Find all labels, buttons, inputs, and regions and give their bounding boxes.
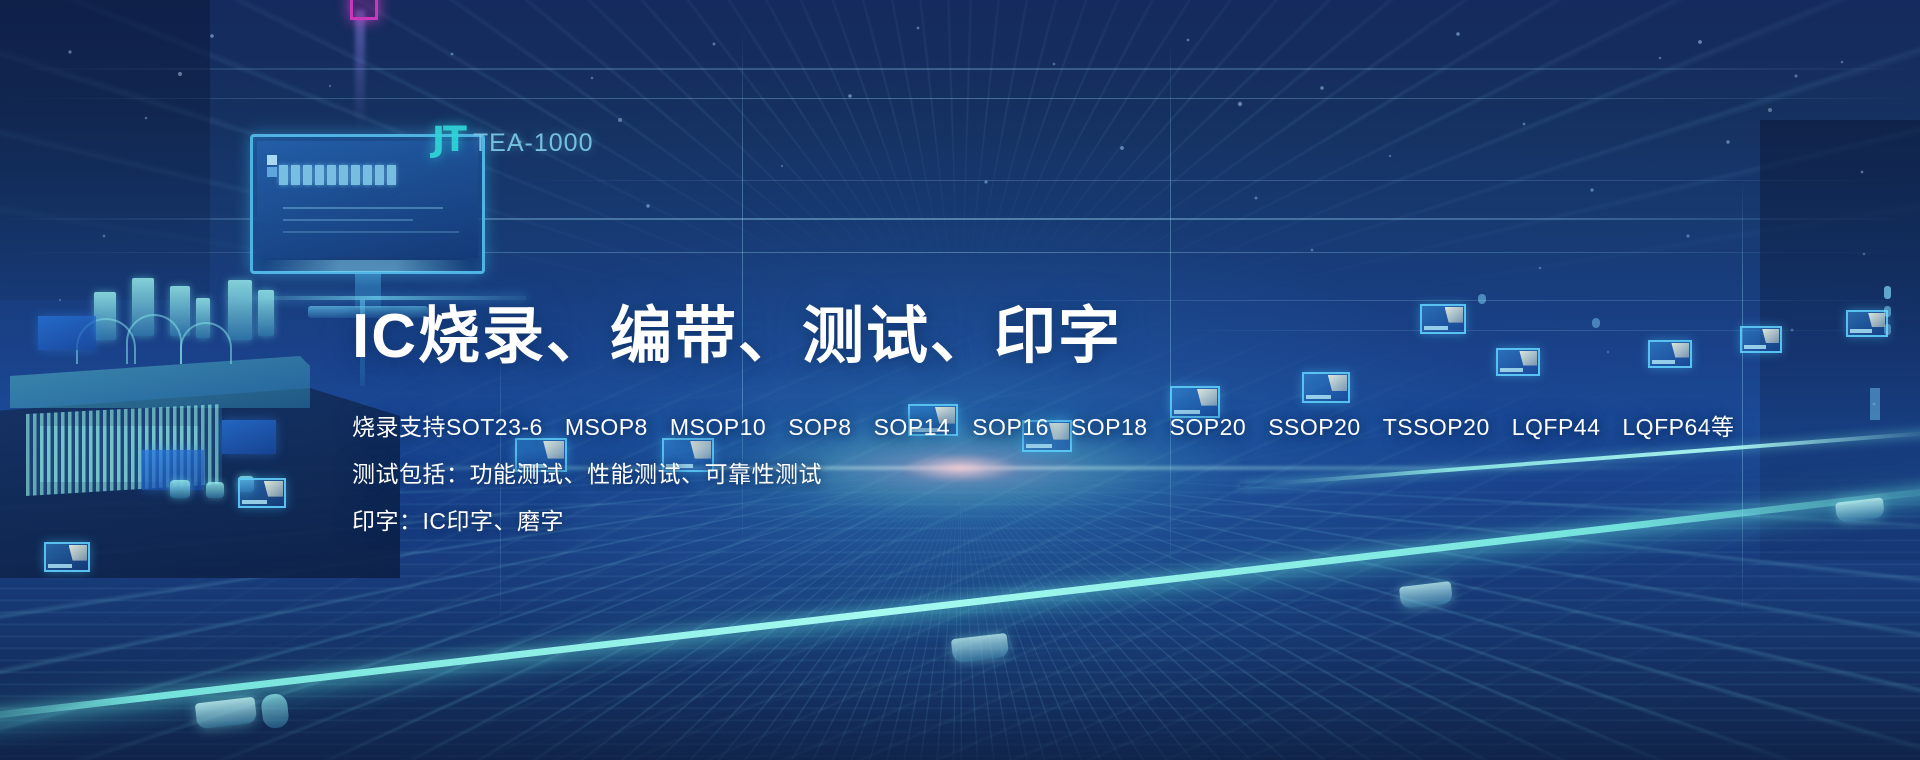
package-label: SOP20 bbox=[1170, 404, 1247, 451]
subtitle-test-scope: 测试包括：功能测试、性能测试、可靠性测试 bbox=[352, 451, 1652, 498]
magenta-chip-icon bbox=[350, 0, 378, 20]
floating-monitor-icon bbox=[1740, 326, 1782, 353]
burn-prefix-label: 烧录支持 bbox=[352, 414, 446, 440]
magenta-light-beam bbox=[355, 10, 365, 130]
machine-logo: JT TEA-1000 bbox=[432, 120, 593, 160]
package-label: LQFP64 bbox=[1622, 404, 1711, 451]
package-label: MSOP10 bbox=[670, 404, 766, 451]
package-label: SOP14 bbox=[874, 404, 951, 451]
package-label: SSOP20 bbox=[1268, 404, 1361, 451]
floating-monitor-icon bbox=[1846, 310, 1888, 337]
status-bar-indicator bbox=[1870, 388, 1880, 420]
subtitle-group: 烧录支持SOT23-6MSOP8MSOP10SOP8SOP14SOP16SOP1… bbox=[352, 404, 1652, 545]
floating-monitor-icon bbox=[238, 478, 286, 508]
floating-monitor-icon bbox=[1648, 340, 1692, 368]
subtitle-printing: 印字：IC印字、磨字 bbox=[352, 498, 1652, 545]
hero-banner: JT TEA-1000 IC烧录、编带、测试、印字 烧录支持SOT23-6MSO… bbox=[0, 0, 1920, 760]
logo-model: TEA-1000 bbox=[473, 129, 594, 158]
package-label: LQFP44 bbox=[1512, 404, 1601, 451]
logo-mark: JT bbox=[432, 120, 465, 160]
package-label: TSSOP20 bbox=[1383, 404, 1490, 451]
subtitle-burn-support: 烧录支持SOT23-6MSOP8MSOP10SOP8SOP14SOP16SOP1… bbox=[352, 404, 1652, 451]
package-label: SOP16 bbox=[972, 404, 1049, 451]
status-dot bbox=[1884, 324, 1891, 335]
banner-copy: IC烧录、编带、测试、印字 烧录支持SOT23-6MSOP8MSOP10SOP8… bbox=[352, 300, 1652, 545]
package-label: SOT23-6 bbox=[446, 404, 543, 451]
status-dot bbox=[1884, 286, 1891, 299]
package-label: MSOP8 bbox=[565, 404, 648, 451]
floating-monitor-icon bbox=[44, 542, 90, 572]
package-suffix-label: 等 bbox=[1711, 414, 1735, 440]
page-title: IC烧录、编带、测试、印字 bbox=[352, 300, 1652, 374]
package-list: SOT23-6MSOP8MSOP10SOP8SOP14SOP16SOP18SOP… bbox=[446, 414, 1711, 440]
package-label: SOP8 bbox=[788, 404, 851, 451]
package-label: SOP18 bbox=[1071, 404, 1148, 451]
status-dot bbox=[1884, 306, 1891, 317]
